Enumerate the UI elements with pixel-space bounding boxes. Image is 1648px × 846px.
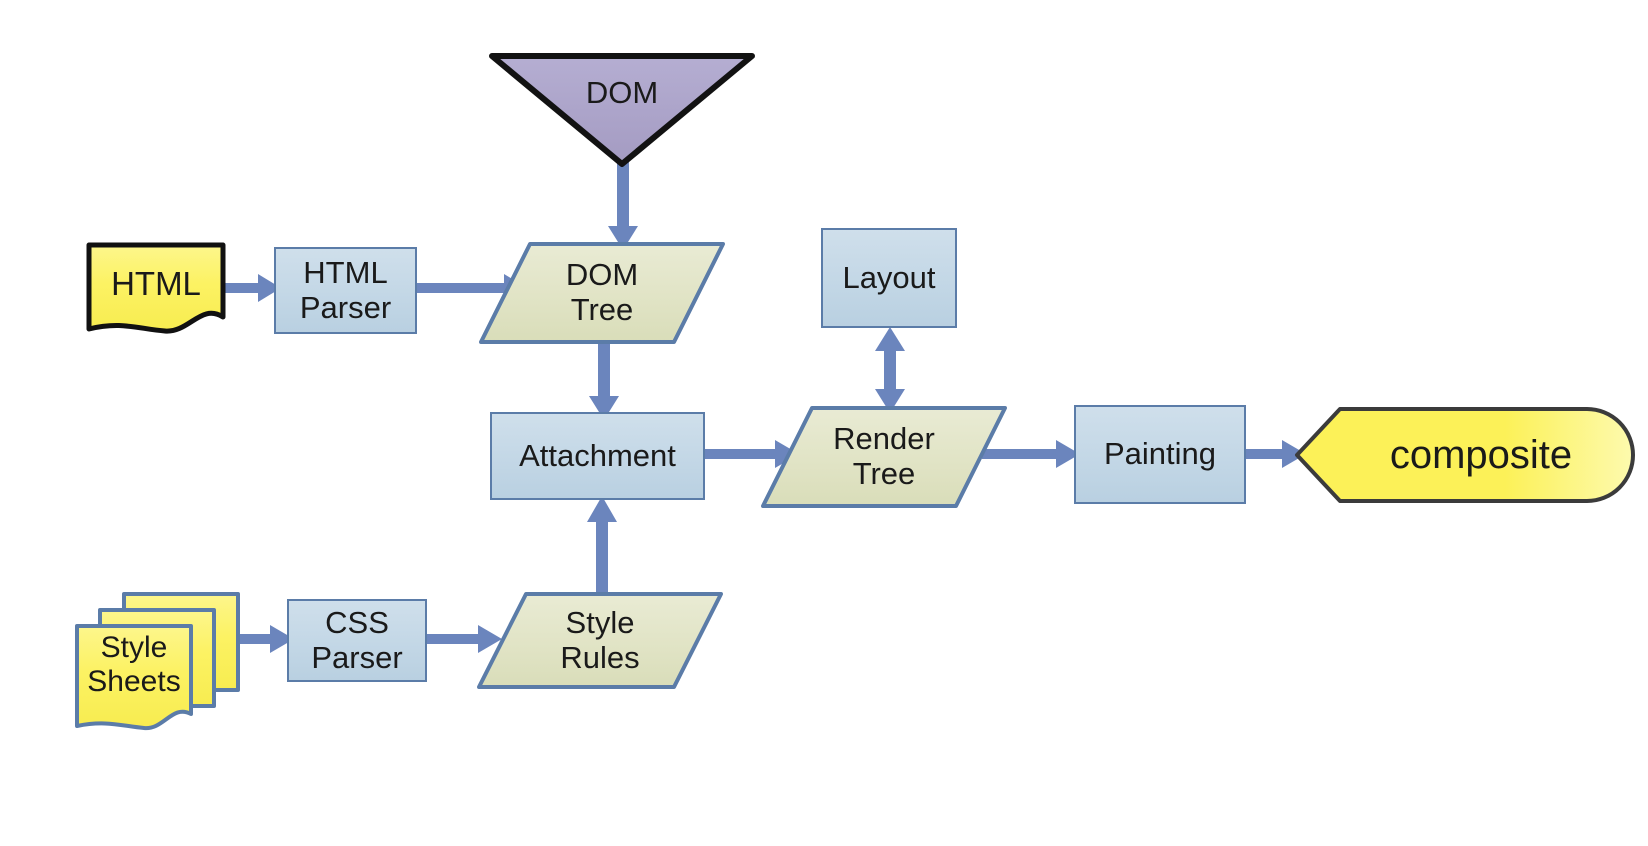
node-layout[interactable]: Layout bbox=[821, 228, 957, 328]
arrow-style-rules-to-attachment bbox=[580, 494, 624, 598]
node-html-parser[interactable]: HTML Parser bbox=[274, 247, 417, 334]
node-attachment[interactable]: Attachment bbox=[490, 412, 705, 500]
node-painting-label: Painting bbox=[1104, 437, 1216, 472]
node-css-parser[interactable]: CSS Parser bbox=[287, 599, 427, 682]
node-layout-label: Layout bbox=[842, 261, 935, 296]
node-composite[interactable]: composite bbox=[1294, 406, 1636, 504]
node-html-parser-label: HTML Parser bbox=[300, 256, 391, 325]
document-shape-icon bbox=[85, 241, 227, 339]
node-style-rules[interactable]: Style Rules bbox=[476, 591, 724, 690]
node-attachment-label: Attachment bbox=[519, 439, 676, 474]
triangle-down-icon bbox=[488, 50, 756, 168]
node-dom-tree[interactable]: DOM Tree bbox=[478, 241, 726, 345]
parallelogram-shape-icon bbox=[478, 241, 726, 345]
node-html[interactable]: HTML bbox=[85, 241, 227, 339]
node-dom[interactable]: DOM bbox=[488, 50, 756, 168]
node-render-tree[interactable]: Render Tree bbox=[760, 405, 1008, 509]
node-painting[interactable]: Painting bbox=[1074, 405, 1246, 504]
composite-shape-icon bbox=[1294, 406, 1636, 504]
document-stack-shape-icon bbox=[72, 588, 244, 736]
node-css-parser-label: CSS Parser bbox=[311, 606, 402, 675]
parallelogram-shape-icon bbox=[476, 591, 724, 690]
arrow-layout-render-tree-bidirectional bbox=[867, 325, 913, 415]
diagram-canvas: HTML HTML Parser DOM DOM Tree Attachment… bbox=[0, 0, 1648, 846]
node-stylesheets[interactable]: Style Sheets bbox=[72, 588, 244, 736]
parallelogram-shape-icon bbox=[760, 405, 1008, 509]
arrow-dom-tree-to-attachment bbox=[582, 340, 626, 422]
arrow-dom-to-dom-tree bbox=[601, 160, 645, 252]
